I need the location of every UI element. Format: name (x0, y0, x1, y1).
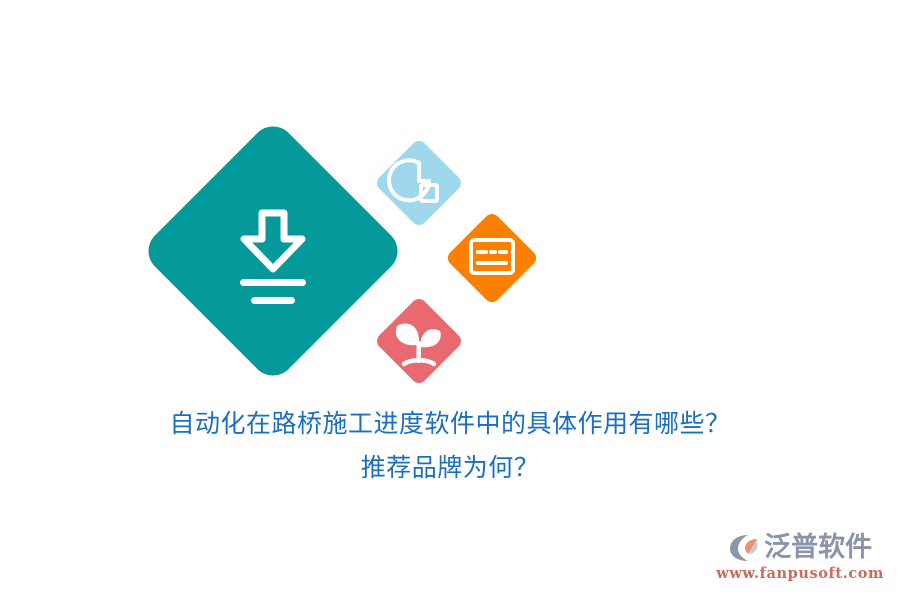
fanpu-swirl-logo-icon (728, 533, 760, 563)
headline-line-2: 推荐品牌为何？ (0, 446, 900, 490)
watermark-logo: 泛普软件 www.fanpusoft.com (716, 533, 884, 582)
diamond-icon-cluster (0, 0, 900, 400)
watermark-brand-row: 泛普软件 (728, 533, 872, 563)
headline-line-1: 自动化在路桥施工进度软件中的具体作用有哪些？ (0, 402, 900, 446)
diamond-download-shape (139, 117, 406, 384)
headline: 自动化在路桥施工进度软件中的具体作用有哪些？ 推荐品牌为何？ (0, 402, 900, 490)
diamond-card-shape (445, 211, 540, 306)
page-canvas: 自动化在路桥施工进度软件中的具体作用有哪些？ 推荐品牌为何？ 泛普软件 www.… (0, 0, 900, 600)
watermark-brand-text: 泛普软件 (764, 533, 872, 563)
watermark-url: www.fanpusoft.com (716, 565, 884, 582)
diamond-growth (371, 293, 467, 389)
